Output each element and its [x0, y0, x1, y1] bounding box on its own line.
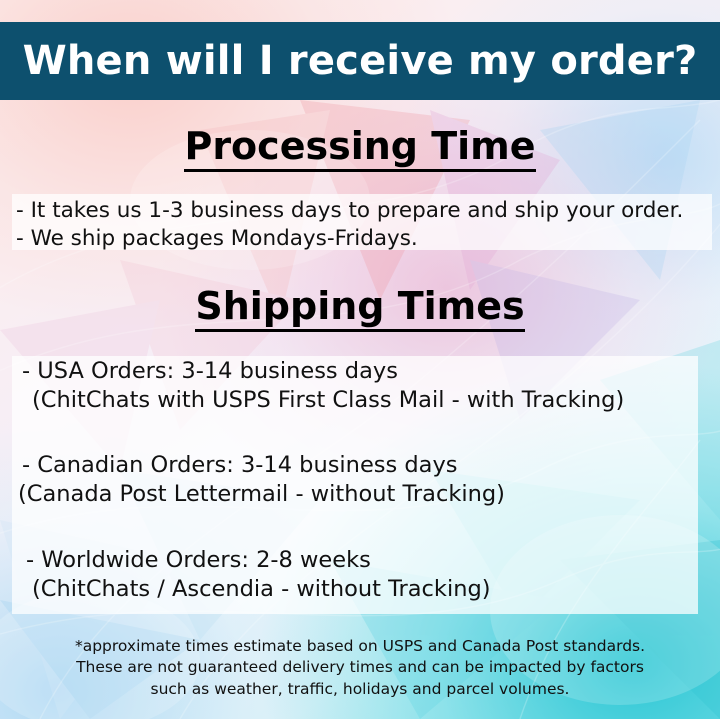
shipping-entry-canada-title: - Canadian Orders: 3-14 business days	[22, 452, 505, 478]
page-title: When will I receive my order?	[23, 38, 698, 84]
footer-disclaimer-line-2: These are not guaranteed delivery times …	[0, 657, 720, 678]
shipping-entry-worldwide-detail: (ChitChats / Ascendia - without Tracking…	[32, 576, 491, 602]
section-heading-shipping-times: Shipping Times	[0, 284, 720, 328]
shipping-entry-usa-detail: (ChitChats with USPS First Class Mail - …	[32, 387, 624, 413]
processing-time-line-1: - It takes us 1-3 business days to prepa…	[16, 198, 683, 223]
footer-disclaimer: *approximate times estimate based on USP…	[0, 636, 720, 700]
section-heading-shipping-times-label: Shipping Times	[195, 284, 524, 332]
shipping-entry-worldwide: - Worldwide Orders: 2-8 weeks (ChitChats…	[26, 547, 491, 602]
processing-time-line-2: - We ship packages Mondays-Fridays.	[16, 226, 418, 251]
header-banner: When will I receive my order?	[0, 22, 720, 100]
section-heading-processing-time: Processing Time	[0, 124, 720, 168]
footer-disclaimer-line-1: *approximate times estimate based on USP…	[0, 636, 720, 657]
section-heading-processing-time-label: Processing Time	[184, 124, 535, 172]
shipping-entry-canada-detail: (Canada Post Lettermail - without Tracki…	[18, 481, 505, 507]
footer-disclaimer-line-3: such as weather, traffic, holidays and p…	[0, 679, 720, 700]
shipping-entry-usa-title: - USA Orders: 3-14 business days	[22, 358, 624, 384]
shipping-info-poster: When will I receive my order? Processing…	[0, 0, 720, 719]
shipping-entry-usa: - USA Orders: 3-14 business days (ChitCh…	[22, 358, 624, 413]
shipping-entry-canada: - Canadian Orders: 3-14 business days (C…	[22, 452, 505, 507]
shipping-entry-worldwide-title: - Worldwide Orders: 2-8 weeks	[26, 547, 491, 573]
